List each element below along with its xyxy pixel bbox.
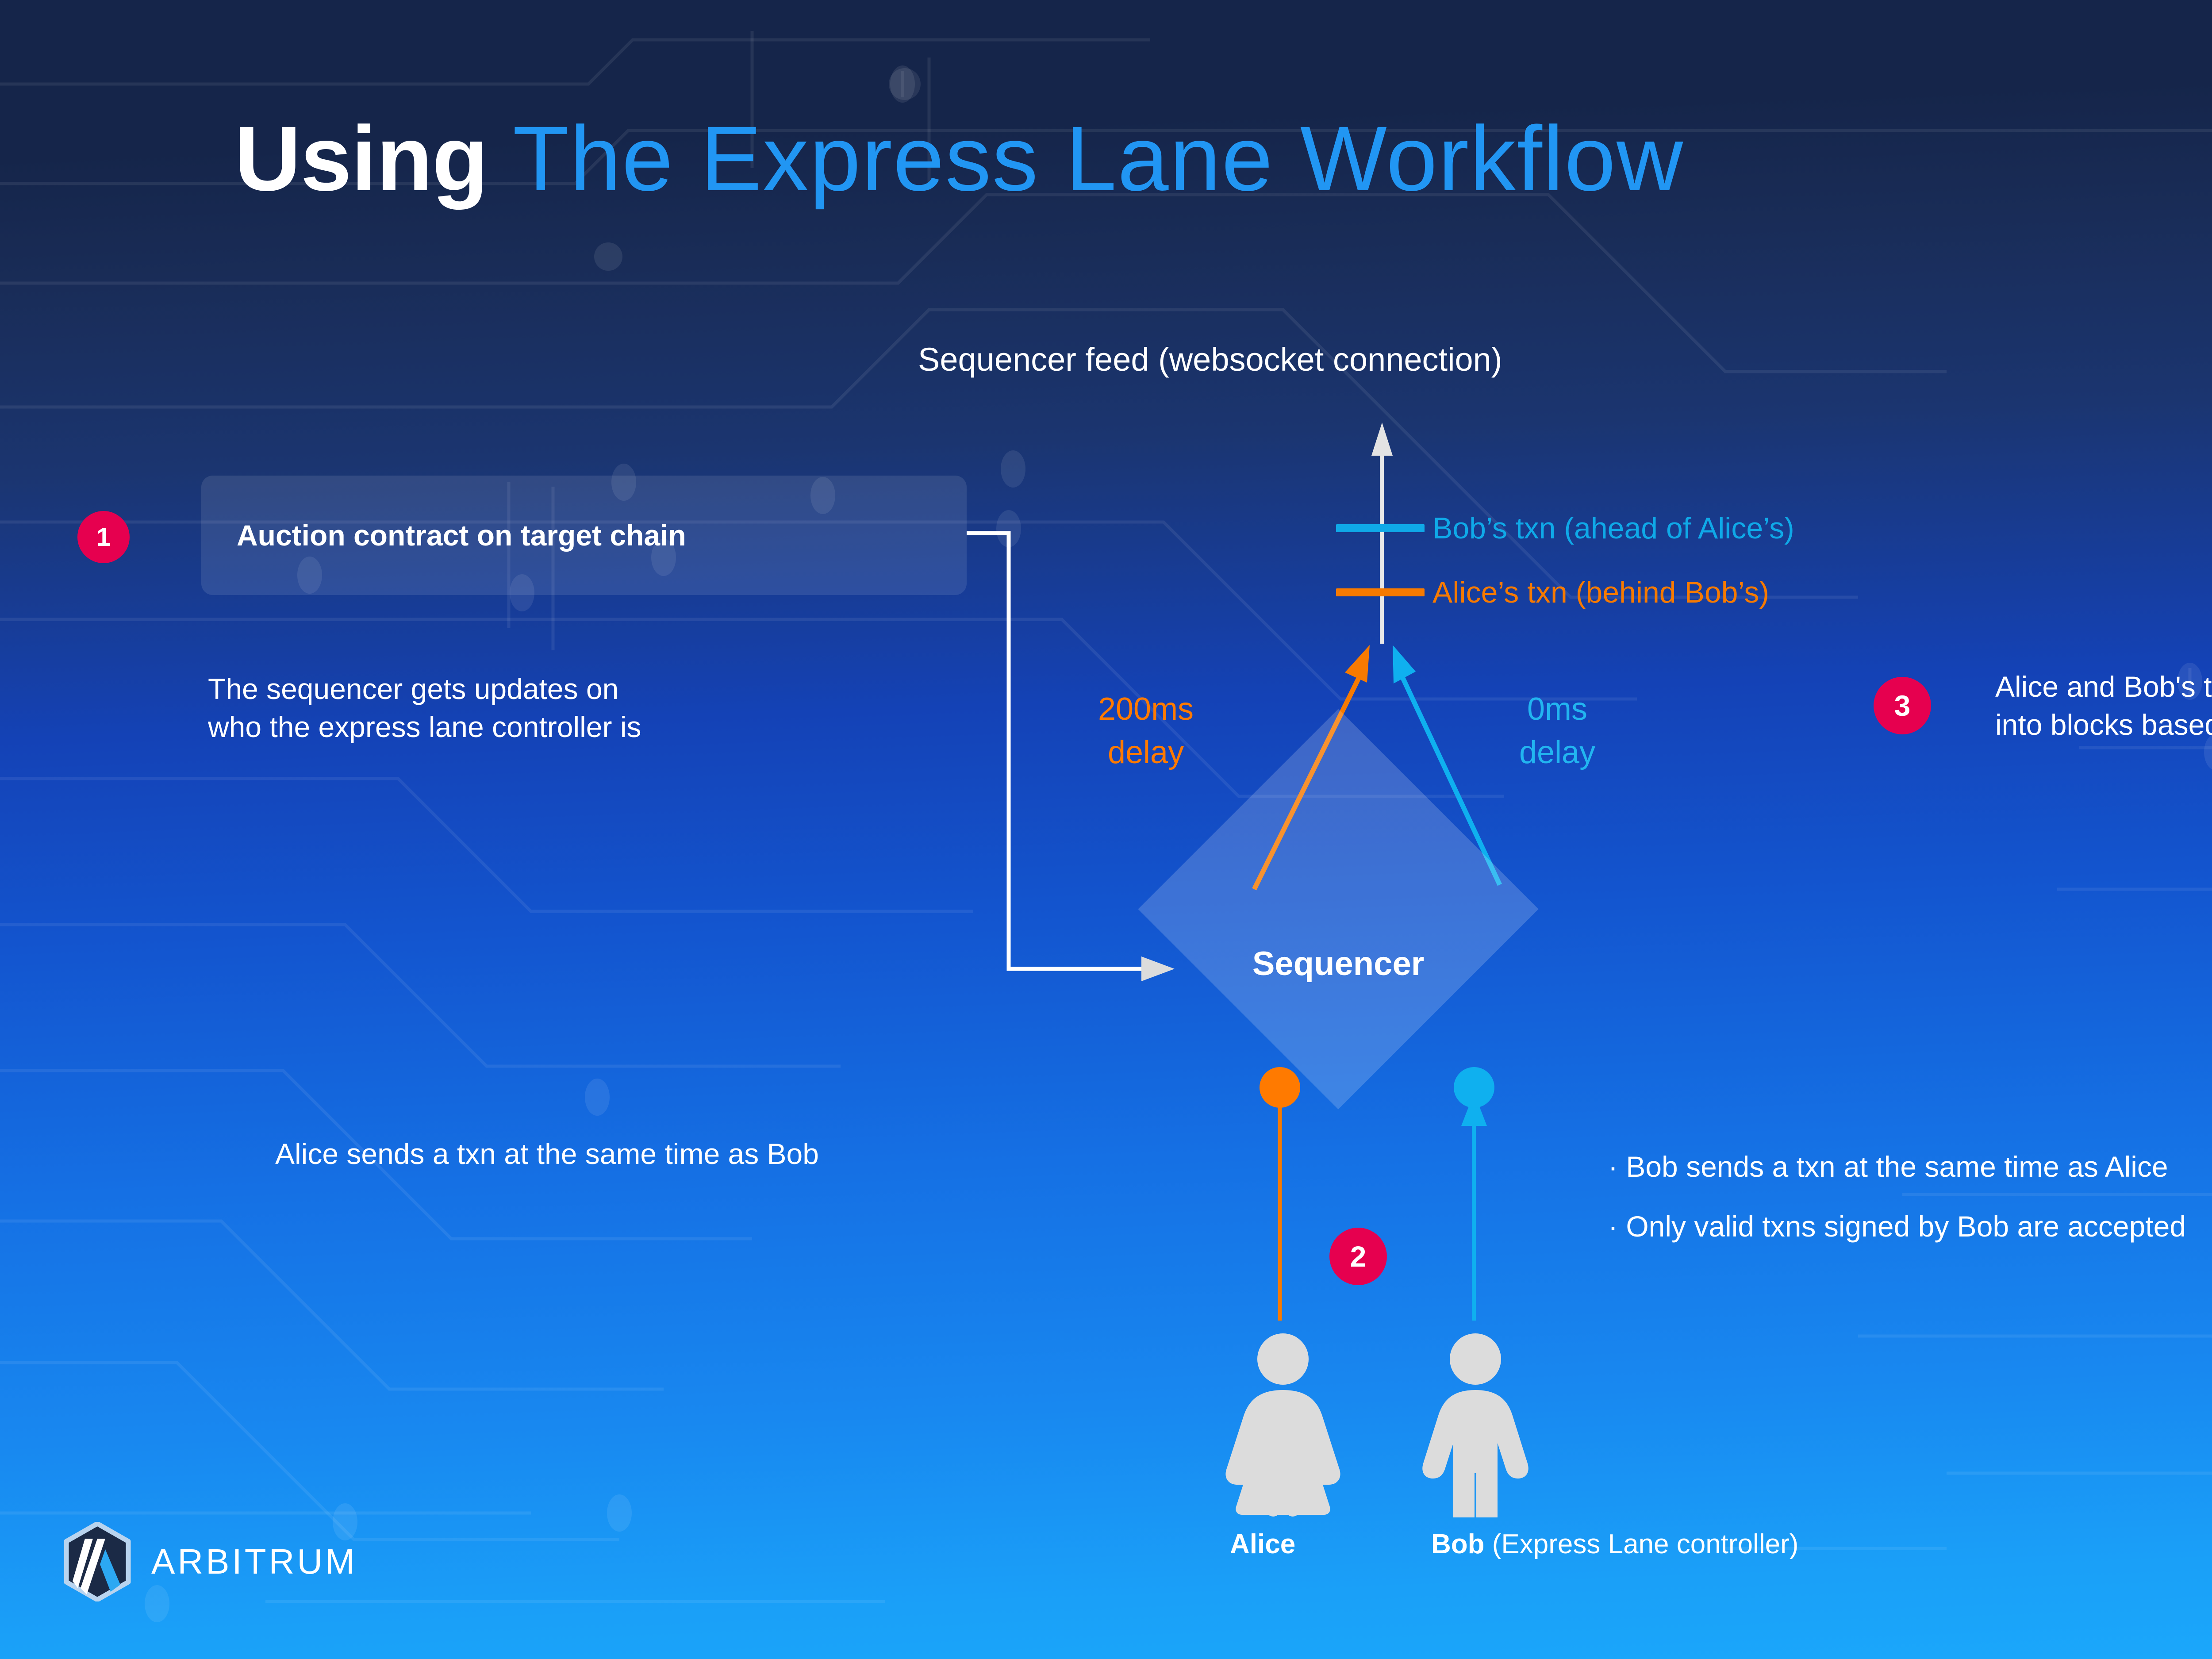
page-title-emphasis: Using bbox=[234, 108, 488, 210]
bob-txn-dot-icon bbox=[1454, 1067, 1494, 1108]
auction-contract-label: Auction contract on target chain bbox=[237, 518, 686, 552]
delay-label-bob: 0ms delay bbox=[1491, 688, 1624, 775]
alice-caption: Alice sends a txn at the same time as Bo… bbox=[275, 1137, 819, 1171]
arbitrum-mark-icon bbox=[62, 1522, 133, 1601]
alice-figure-label: Alice bbox=[1230, 1528, 1295, 1560]
bob-bullet-list: · Bob sends a txn at the same time as Al… bbox=[1608, 1137, 2186, 1257]
arbitrum-wordmark: ARBITRUM bbox=[151, 1541, 357, 1582]
page-title-rest: The Express Lane Workflow bbox=[488, 108, 1684, 210]
connector-lines-layer bbox=[0, 0, 2212, 1659]
alice-figure-icon bbox=[1212, 1332, 1354, 1517]
alice-txn-dot-icon bbox=[1260, 1067, 1300, 1108]
bob-figure-role: (Express Lane controller) bbox=[1485, 1529, 1799, 1559]
sequencer-feed-label: Sequencer feed (websocket connection) bbox=[918, 341, 1502, 378]
bob-figure-name: Bob bbox=[1431, 1529, 1485, 1559]
sequencer-node-label: Sequencer bbox=[1197, 945, 1480, 983]
legend-dash-bob-icon bbox=[1336, 524, 1425, 532]
step-badge-2: 2 bbox=[1329, 1228, 1387, 1285]
step-badge-3: 3 bbox=[1874, 677, 1931, 734]
legend-label-alice: Alice’s txn (behind Bob’s) bbox=[1432, 575, 1769, 610]
legend-item-bob: Bob’s txn (ahead of Alice’s) bbox=[1336, 511, 1794, 545]
slide-canvas: Using The Express Lane Workflow Sequence… bbox=[0, 0, 2212, 1659]
bob-to-sequencer-line bbox=[1461, 1093, 1487, 1321]
step1-description: The sequencer gets updates on who the ex… bbox=[208, 670, 641, 746]
circuit-background-pattern bbox=[0, 0, 2212, 1659]
legend-label-bob: Bob’s txn (ahead of Alice’s) bbox=[1432, 511, 1794, 545]
delay-label-alice: 200ms delay bbox=[1073, 688, 1219, 775]
txn-dots-layer bbox=[0, 0, 2212, 1659]
arbitrum-logo: ARBITRUM bbox=[62, 1522, 357, 1601]
bob-figure-label: Bob (Express Lane controller) bbox=[1431, 1528, 1798, 1560]
step3-description: Alice and Bob's txns get ordered into bl… bbox=[1995, 668, 2212, 744]
legend-item-alice: Alice’s txn (behind Bob’s) bbox=[1336, 575, 1769, 610]
bob-figure-icon bbox=[1409, 1332, 1542, 1517]
legend-dash-alice-icon bbox=[1336, 588, 1425, 596]
auction-contract-box: Auction contract on target chain bbox=[201, 476, 967, 595]
step-badge-1: 1 bbox=[77, 511, 130, 563]
page-title: Using The Express Lane Workflow bbox=[234, 113, 1684, 205]
